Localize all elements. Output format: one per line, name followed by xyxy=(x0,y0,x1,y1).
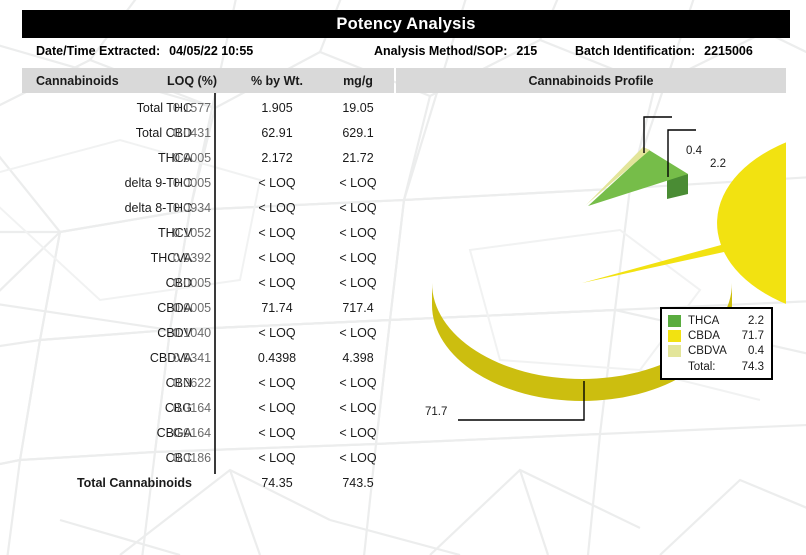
page-title: Potency Analysis xyxy=(336,15,475,34)
legend-entries: THCA2.2CBDA71.7CBDVA0.4 xyxy=(668,313,764,358)
cell-loq: 0.0005 xyxy=(150,170,234,195)
legend-row: THCA2.2 xyxy=(668,313,764,328)
meta-batch-identification: Batch Identification:2215006 xyxy=(575,44,753,58)
callout-value-cbda: 71.7 xyxy=(425,406,447,418)
table-row-total: Total Cannabinoids74.35743.5 xyxy=(22,470,394,495)
cell-percent-by-weight: < LOQ xyxy=(234,420,320,445)
cell-mg-per-g: 4.398 xyxy=(322,345,394,370)
cell-percent-by-weight: < LOQ xyxy=(234,245,320,270)
cell-loq: 0.0431 xyxy=(150,120,234,145)
table-row: CBN0.0622< LOQ< LOQ xyxy=(22,370,394,395)
table-row: Total THC0.15771.90519.05 xyxy=(22,95,394,120)
cell-loq: 0.1052 xyxy=(150,220,234,245)
potency-results-table: Total THC0.15771.90519.05Total CBD0.0431… xyxy=(22,95,394,495)
meta-analysis-method: Analysis Method/SOP:215 xyxy=(374,44,537,58)
table-row: CBDV0.1040< LOQ< LOQ xyxy=(22,320,394,345)
table-row: CBGA0.0164< LOQ< LOQ xyxy=(22,420,394,445)
cell-loq: 0.0005 xyxy=(150,145,234,170)
column-header-loq: LOQ (%) xyxy=(150,68,234,93)
cell-percent-by-weight: < LOQ xyxy=(234,395,320,420)
cell-percent-by-weight: 2.172 xyxy=(234,145,320,170)
cell-loq: 0.0005 xyxy=(150,270,234,295)
analysis-method-label: Analysis Method/SOP: xyxy=(374,44,507,58)
profile-header-band: Cannabinoids Profile xyxy=(396,68,786,93)
legend-series-name: THCA xyxy=(688,315,734,327)
date-extracted-value: 04/05/22 10:55 xyxy=(169,44,253,58)
cell-mg-per-g: < LOQ xyxy=(322,195,394,220)
cell-mg-per-g: 21.72 xyxy=(322,145,394,170)
cell-percent-by-weight: < LOQ xyxy=(234,370,320,395)
legend-total-value: 74.3 xyxy=(734,361,764,373)
chart-legend: THCA2.2CBDA71.7CBDVA0.4 Total: 74.3 xyxy=(660,307,773,380)
cell-loq: 0.0392 xyxy=(150,245,234,270)
table-row: THCV0.1052< LOQ< LOQ xyxy=(22,220,394,245)
cell-percent-by-weight: 71.74 xyxy=(234,295,320,320)
report-title-bar: Potency Analysis xyxy=(22,10,790,38)
cell-loq: 0.0164 xyxy=(150,420,234,445)
cell-mg-per-g: 629.1 xyxy=(322,120,394,145)
cell-loq: 0.0164 xyxy=(150,395,234,420)
cell-mg-per-g: < LOQ xyxy=(322,220,394,245)
cell-percent-by-weight: < LOQ xyxy=(234,170,320,195)
table-row: CBDA0.000571.74717.4 xyxy=(22,295,394,320)
legend-total-label: Total: xyxy=(688,361,734,373)
legend-series-value: 0.4 xyxy=(734,345,764,357)
cannabinoids-profile-chart: 0.4 2.2 71.7 THCA2.2CBDA71.7CBDVA0.4 Tot… xyxy=(396,93,786,493)
table-row: delta 9-THC0.0005< LOQ< LOQ xyxy=(22,170,394,195)
cell-percent-by-weight: < LOQ xyxy=(234,445,320,470)
table-row: Total CBD0.043162.91629.1 xyxy=(22,120,394,145)
table-row: THCA0.00052.17221.72 xyxy=(22,145,394,170)
cell-loq: 0.0005 xyxy=(150,295,234,320)
pie-slice-cbda-top xyxy=(582,127,786,319)
column-header-pct-by-wt: % by Wt. xyxy=(234,68,320,93)
cell-loq: 0.0341 xyxy=(150,345,234,370)
cell-percent-by-weight: 1.905 xyxy=(234,95,320,120)
date-extracted-label: Date/Time Extracted: xyxy=(36,44,160,58)
cell-mg-per-g: < LOQ xyxy=(322,420,394,445)
callout-value-thca: 2.2 xyxy=(710,158,726,170)
table-row: CBC0.0186< LOQ< LOQ xyxy=(22,445,394,470)
table-row: CBD0.0005< LOQ< LOQ xyxy=(22,270,394,295)
cell-mg-per-g: 717.4 xyxy=(322,295,394,320)
cell-loq: 0.1577 xyxy=(150,95,234,120)
cell-percent-by-weight: < LOQ xyxy=(234,270,320,295)
table-row: delta 8-THC0.0934< LOQ< LOQ xyxy=(22,195,394,220)
table-row: THCVA0.0392< LOQ< LOQ xyxy=(22,245,394,270)
column-header-mg-per-g: mg/g xyxy=(322,68,394,93)
analysis-method-value: 215 xyxy=(516,44,537,58)
legend-color-swatch xyxy=(668,330,681,342)
cell-percent-by-weight: < LOQ xyxy=(234,220,320,245)
table-row: CBG0.0164< LOQ< LOQ xyxy=(22,395,394,420)
meta-date-extracted: Date/Time Extracted:04/05/22 10:55 xyxy=(36,44,253,58)
legend-series-value: 71.7 xyxy=(734,330,764,342)
legend-total-row: Total: 74.3 xyxy=(668,359,764,374)
cell-loq: 0.1040 xyxy=(150,320,234,345)
legend-row: CBDA71.7 xyxy=(668,328,764,343)
profile-heading: Cannabinoids Profile xyxy=(396,68,786,93)
legend-series-name: CBDVA xyxy=(688,345,734,357)
batch-identification-value: 2215006 xyxy=(704,44,753,58)
legend-series-value: 2.2 xyxy=(734,315,764,327)
legend-series-name: CBDA xyxy=(688,330,734,342)
legend-row: CBDVA0.4 xyxy=(668,343,764,358)
table-header-row: Cannabinoids LOQ (%) % by Wt. mg/g xyxy=(22,68,394,93)
cell-loq: 0.0186 xyxy=(150,445,234,470)
cell-mg-per-g: < LOQ xyxy=(322,395,394,420)
cell-mg-per-g: < LOQ xyxy=(322,370,394,395)
cell-mg-per-g: < LOQ xyxy=(322,445,394,470)
callout-value-cbdva: 0.4 xyxy=(686,145,702,157)
column-header-cannabinoids: Cannabinoids xyxy=(36,68,166,93)
legend-color-swatch xyxy=(668,345,681,357)
legend-color-swatch xyxy=(668,315,681,327)
report-meta-row: Date/Time Extracted:04/05/22 10:55 Analy… xyxy=(22,40,790,64)
cell-loq: 0.0622 xyxy=(150,370,234,395)
cell-loq: 0.0934 xyxy=(150,195,234,220)
cell-percent-by-weight: 74.35 xyxy=(234,470,320,495)
cell-mg-per-g: < LOQ xyxy=(322,270,394,295)
cell-percent-by-weight: 62.91 xyxy=(234,120,320,145)
cell-mg-per-g: 19.05 xyxy=(322,95,394,120)
table-row: CBDVA0.03410.43984.398 xyxy=(22,345,394,370)
cell-percent-by-weight: < LOQ xyxy=(234,195,320,220)
cell-percent-by-weight: 0.4398 xyxy=(234,345,320,370)
pie-chart-graphic xyxy=(396,93,786,493)
cell-mg-per-g: < LOQ xyxy=(322,170,394,195)
cell-loq xyxy=(150,470,234,495)
cell-percent-by-weight: < LOQ xyxy=(234,320,320,345)
cell-mg-per-g: 743.5 xyxy=(322,470,394,495)
cell-mg-per-g: < LOQ xyxy=(322,245,394,270)
cell-mg-per-g: < LOQ xyxy=(322,320,394,345)
batch-identification-label: Batch Identification: xyxy=(575,44,695,58)
